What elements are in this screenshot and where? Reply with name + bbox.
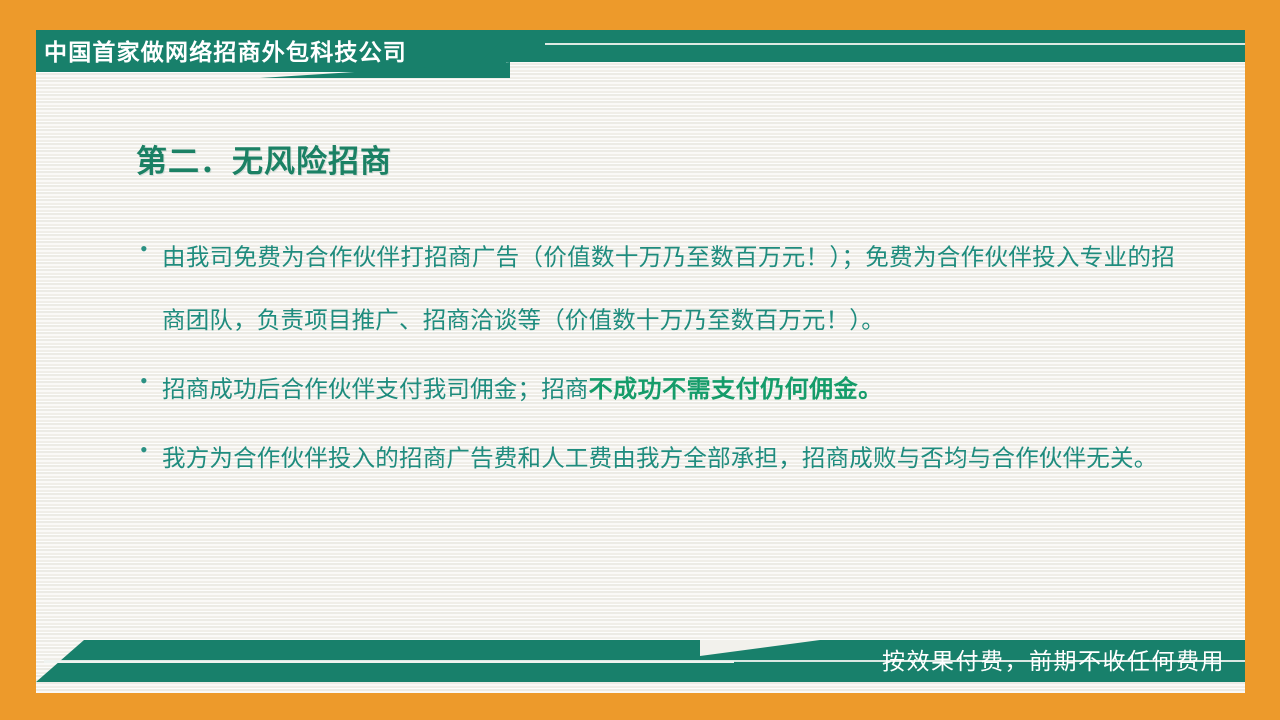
footer-divider-line <box>44 661 734 663</box>
list-item-text: 招商成功后合作伙伴支付我司佣金；招商不成功不需支付仍何佣金。 <box>162 358 1175 421</box>
list-item: • 我方为合作伙伴投入的招商广告费和人工费由我方全部承担，招商成败与否均与合作伙… <box>140 427 1175 490</box>
header-divider-line <box>545 43 1245 45</box>
list-item-text-plain: 我方为合作伙伴投入的招商广告费和人工费由我方全部承担，招商成败与否均与合作伙伴无… <box>162 444 1157 472</box>
bullet-dot-icon: • <box>140 358 162 404</box>
bullet-dot-icon: • <box>140 427 162 473</box>
header-band-right <box>505 30 1245 62</box>
company-tagline: 中国首家做网络招商外包科技公司 <box>38 32 407 72</box>
list-item-text-plain: 招商成功后合作伙伴支付我司佣金；招商 <box>162 375 589 403</box>
bullet-dot-icon: • <box>140 226 162 272</box>
bullet-list: • 由我司免费为合作伙伴打招商广告（价值数十万乃至数百万元！）；免费为合作伙伴投… <box>140 226 1175 496</box>
list-item: • 由我司免费为合作伙伴打招商广告（价值数十万乃至数百万元！）；免费为合作伙伴投… <box>140 226 1175 352</box>
list-item-text: 由我司免费为合作伙伴打招商广告（价值数十万乃至数百万元！）；免费为合作伙伴投入专… <box>162 226 1175 352</box>
list-item-text: 我方为合作伙伴投入的招商广告费和人工费由我方全部承担，招商成败与否均与合作伙伴无… <box>162 427 1175 490</box>
footer-slogan: 按效果付费，前期不收任何费用 <box>882 640 1225 682</box>
list-item-text-emphasis: 不成功不需支付仍何佣金。 <box>589 376 883 403</box>
list-item: • 招商成功后合作伙伴支付我司佣金；招商不成功不需支付仍何佣金。 <box>140 358 1175 421</box>
slide-canvas: 中国首家做网络招商外包科技公司 第二．无风险招商 • 由我司免费为合作伙伴打招商… <box>0 0 1280 720</box>
page-title: 第二．无风险招商 <box>136 136 392 181</box>
list-item-text-plain: 由我司免费为合作伙伴打招商广告（价值数十万乃至数百万元！）；免费为合作伙伴投入专… <box>162 243 1175 334</box>
